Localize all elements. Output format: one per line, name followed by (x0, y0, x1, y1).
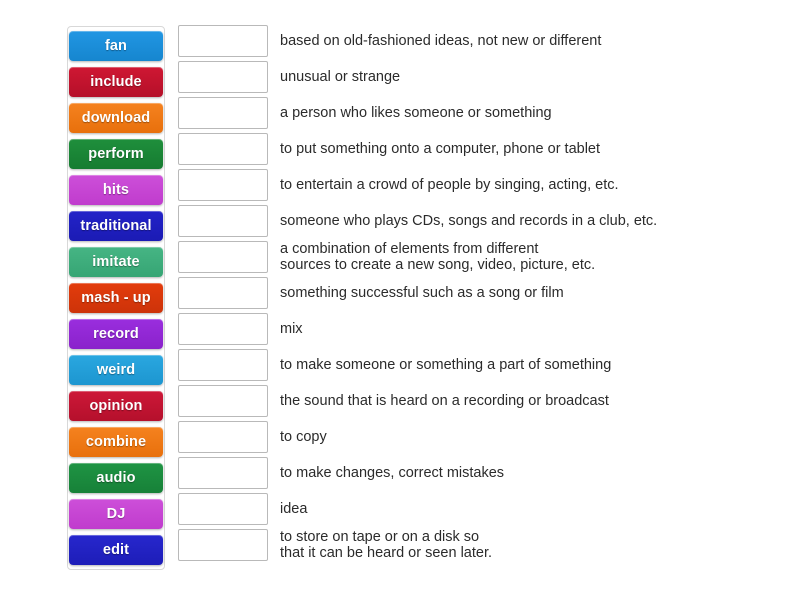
definition-text: to put something onto a computer, phone … (280, 141, 600, 157)
drop-slot[interactable] (178, 277, 268, 309)
word-tile[interactable]: record (69, 319, 163, 349)
word-tile[interactable]: imitate (69, 247, 163, 277)
answer-row-list: based on old-fashioned ideas, not new or… (178, 26, 778, 566)
word-tile[interactable]: include (69, 67, 163, 97)
drop-slot[interactable] (178, 241, 268, 273)
answer-row: idea (178, 494, 778, 524)
word-tile-tray: fanincludedownloadperformhitstraditional… (67, 26, 165, 570)
definition-text: to copy (280, 429, 327, 445)
answer-row: to store on tape or on a disk so that it… (178, 530, 778, 560)
match-up-activity: fanincludedownloadperformhitstraditional… (0, 0, 800, 600)
drop-slot[interactable] (178, 529, 268, 561)
definition-text: mix (280, 321, 303, 337)
definition-text: a person who likes someone or something (280, 105, 552, 121)
drop-slot[interactable] (178, 313, 268, 345)
answer-row: a combination of elements from different… (178, 242, 778, 272)
word-tile[interactable]: perform (69, 139, 163, 169)
word-tile[interactable]: download (69, 103, 163, 133)
answer-row: to make someone or something a part of s… (178, 350, 778, 380)
definition-text: the sound that is heard on a recording o… (280, 393, 609, 409)
definition-text: to make changes, correct mistakes (280, 465, 504, 481)
answer-row: someone who plays CDs, songs and records… (178, 206, 778, 236)
word-tile[interactable]: edit (69, 535, 163, 565)
answer-row: something successful such as a song or f… (178, 278, 778, 308)
drop-slot[interactable] (178, 97, 268, 129)
drop-slot[interactable] (178, 133, 268, 165)
drop-slot[interactable] (178, 205, 268, 237)
definition-text: unusual or strange (280, 69, 400, 85)
definition-text: something successful such as a song or f… (280, 285, 564, 301)
definition-text: to store on tape or on a disk so that it… (280, 529, 492, 561)
word-tile[interactable]: opinion (69, 391, 163, 421)
answer-row: the sound that is heard on a recording o… (178, 386, 778, 416)
definition-text: to entertain a crowd of people by singin… (280, 177, 619, 193)
definition-text: someone who plays CDs, songs and records… (280, 213, 657, 229)
definition-text: idea (280, 501, 307, 517)
answer-row: to entertain a crowd of people by singin… (178, 170, 778, 200)
word-tile[interactable]: fan (69, 31, 163, 61)
answer-row: to make changes, correct mistakes (178, 458, 778, 488)
drop-slot[interactable] (178, 493, 268, 525)
word-tile[interactable]: mash - up (69, 283, 163, 313)
answer-row: to copy (178, 422, 778, 452)
drop-slot[interactable] (178, 349, 268, 381)
answer-row: a person who likes someone or something (178, 98, 778, 128)
definition-text: based on old-fashioned ideas, not new or… (280, 33, 601, 49)
answer-row: unusual or strange (178, 62, 778, 92)
word-tile[interactable]: traditional (69, 211, 163, 241)
word-tile[interactable]: weird (69, 355, 163, 385)
drop-slot[interactable] (178, 61, 268, 93)
word-tile[interactable]: audio (69, 463, 163, 493)
drop-slot[interactable] (178, 385, 268, 417)
drop-slot[interactable] (178, 25, 268, 57)
word-tile[interactable]: combine (69, 427, 163, 457)
word-tile[interactable]: DJ (69, 499, 163, 529)
answer-row: mix (178, 314, 778, 344)
drop-slot[interactable] (178, 421, 268, 453)
drop-slot[interactable] (178, 169, 268, 201)
definition-text: to make someone or something a part of s… (280, 357, 611, 373)
answer-row: to put something onto a computer, phone … (178, 134, 778, 164)
answer-row: based on old-fashioned ideas, not new or… (178, 26, 778, 56)
word-tile[interactable]: hits (69, 175, 163, 205)
definition-text: a combination of elements from different… (280, 241, 595, 273)
drop-slot[interactable] (178, 457, 268, 489)
